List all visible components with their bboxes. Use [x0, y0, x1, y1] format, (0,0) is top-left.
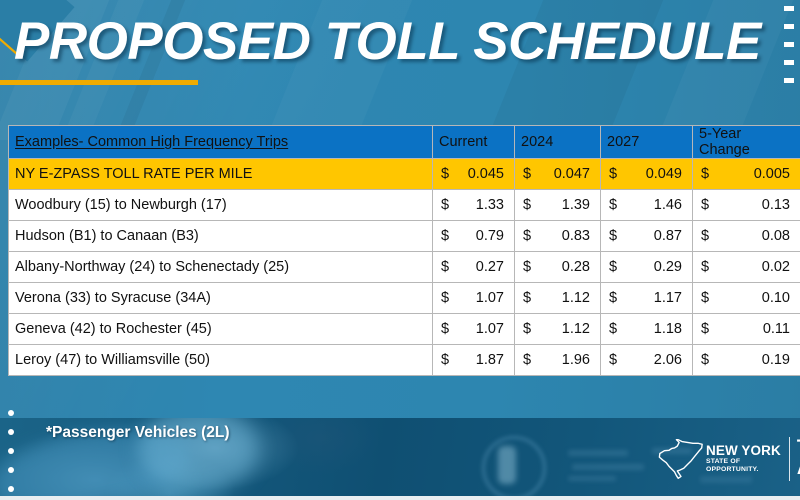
row-2027-cell: $1.18 — [601, 314, 693, 345]
rate-row-label: NY E-ZPASS TOLL RATE PER MILE — [9, 159, 433, 190]
bottom-left-dot-decoration — [8, 397, 14, 492]
row-2024-value: 1.12 — [562, 321, 590, 337]
row-change-cell: $0.10 — [693, 283, 800, 314]
row-change-cell: $0.19 — [693, 345, 800, 376]
column-header-current-label: Current — [439, 134, 508, 150]
row-2024-value: 1.12 — [562, 290, 590, 306]
photo-blur-shape — [572, 464, 644, 470]
slide-canvas: PROPOSED TOLL SCHEDULE Examples- Common … — [0, 0, 800, 500]
row-2027-cell: $0.87 — [601, 221, 693, 252]
currency-symbol: $ — [701, 228, 709, 244]
row-trip-label: Woodbury (15) to Newburgh (17) — [9, 190, 433, 221]
row-change-cell: $0.02 — [693, 252, 800, 283]
row-current-value: 1.87 — [476, 352, 504, 368]
row-change-value: 0.19 — [762, 352, 790, 368]
row-2027-value: 1.46 — [654, 197, 682, 213]
currency-symbol: $ — [701, 321, 709, 337]
row-change-cell: $0.11 — [693, 314, 800, 345]
footnote-text: *Passenger Vehicles (2L) — [46, 424, 230, 442]
currency-symbol: $ — [523, 259, 531, 275]
row-2024-cell: $0.83 — [515, 221, 601, 252]
column-header-2024-label: 2024 — [521, 134, 594, 150]
logo-state-line2: STATE OF — [706, 459, 781, 466]
column-header-5-year-change-line2: Change — [699, 142, 794, 158]
row-2024-value: 0.83 — [562, 228, 590, 244]
dash-mark — [784, 60, 794, 65]
currency-symbol: $ — [701, 166, 709, 182]
row-change-value: 0.02 — [762, 259, 790, 275]
currency-symbol: $ — [701, 197, 709, 213]
currency-symbol: $ — [701, 352, 709, 368]
row-change-value: 0.13 — [762, 197, 790, 213]
row-2024-cell: $1.39 — [515, 190, 601, 221]
currency-symbol: $ — [523, 197, 531, 213]
currency-symbol: $ — [609, 197, 617, 213]
row-current-cell: $1.07 — [433, 283, 515, 314]
row-current-cell: $1.33 — [433, 190, 515, 221]
row-current-cell: $0.79 — [433, 221, 515, 252]
row-2024-value: 0.28 — [562, 259, 590, 275]
currency-symbol: $ — [609, 321, 617, 337]
table-row: Hudson (B1) to Canaan (B3) $0.79 $0.83 $… — [9, 221, 800, 252]
rate-row-current-value: 0.045 — [468, 166, 504, 182]
column-header-trips-label: Examples- Common High Frequency Trips — [15, 134, 426, 150]
title-accent-rule — [0, 80, 198, 85]
row-trip-label: Verona (33) to Syracuse (34A) — [9, 283, 433, 314]
page-title: PROPOSED TOLL SCHEDULE — [14, 14, 761, 70]
rate-row-2024-value: 0.047 — [554, 166, 590, 182]
table-row: Leroy (47) to Williamsville (50) $1.87 $… — [9, 345, 800, 376]
column-header-current: Current — [433, 126, 515, 159]
row-2027-value: 1.17 — [654, 290, 682, 306]
row-2024-cell: $0.28 — [515, 252, 601, 283]
table-body: NY E-ZPASS TOLL RATE PER MILE $ 0.045 $ … — [9, 159, 800, 376]
row-2027-value: 0.87 — [654, 228, 682, 244]
ny-thruway-authority-logo: NEW YORK STATE OF OPPORTUNITY. Thruway A… — [658, 432, 800, 486]
logo-new-york-text: NEW YORK STATE OF OPPORTUNITY. — [706, 444, 781, 474]
photo-blur-shape — [568, 476, 616, 481]
currency-symbol: $ — [609, 228, 617, 244]
dash-mark — [784, 6, 794, 11]
rate-row-2027-cell: $ 0.049 — [601, 159, 693, 190]
dash-mark — [784, 42, 794, 47]
row-current-value: 0.27 — [476, 259, 504, 275]
currency-symbol: $ — [441, 352, 449, 368]
currency-symbol: $ — [609, 259, 617, 275]
table-row: Albany-Northway (24) to Schenectady (25)… — [9, 252, 800, 283]
rate-row-current-cell: $ 0.045 — [433, 159, 515, 190]
row-current-cell: $1.07 — [433, 314, 515, 345]
row-current-value: 1.33 — [476, 197, 504, 213]
row-change-value: 0.08 — [762, 228, 790, 244]
title-block: PROPOSED TOLL SCHEDULE — [14, 14, 761, 85]
dot-mark — [8, 486, 14, 492]
row-2027-value: 1.18 — [654, 321, 682, 337]
row-trip-label: Hudson (B1) to Canaan (B3) — [9, 221, 433, 252]
row-current-cell: $1.87 — [433, 345, 515, 376]
dash-mark — [784, 24, 794, 29]
row-change-cell: $0.08 — [693, 221, 800, 252]
toll-schedule-table-container: Examples- Common High Frequency Trips Cu… — [8, 125, 800, 376]
currency-symbol: $ — [523, 290, 531, 306]
row-2027-value: 2.06 — [654, 352, 682, 368]
currency-symbol: $ — [609, 290, 617, 306]
dot-mark — [8, 467, 14, 473]
currency-symbol: $ — [441, 228, 449, 244]
column-header-2027-label: 2027 — [607, 134, 686, 150]
row-current-value: 1.07 — [476, 290, 504, 306]
column-header-2024: 2024 — [515, 126, 601, 159]
rate-row-2027-value: 0.049 — [646, 166, 682, 182]
row-change-value: 0.11 — [763, 321, 790, 337]
photo-blur-shape — [568, 450, 628, 456]
currency-symbol: $ — [441, 166, 449, 182]
table-header-row: Examples- Common High Frequency Trips Cu… — [9, 126, 800, 159]
row-current-value: 0.79 — [476, 228, 504, 244]
dot-mark — [8, 448, 14, 454]
row-2024-value: 1.96 — [562, 352, 590, 368]
row-2024-cell: $1.12 — [515, 314, 601, 345]
table-row: Woodbury (15) to Newburgh (17) $1.33 $1.… — [9, 190, 800, 221]
currency-symbol: $ — [523, 321, 531, 337]
currency-symbol: $ — [441, 197, 449, 213]
bottom-edge-sliver — [0, 496, 800, 500]
row-trip-label: Geneva (42) to Rochester (45) — [9, 314, 433, 345]
dot-mark — [8, 429, 14, 435]
rate-row-change-cell: $ 0.005 — [693, 159, 800, 190]
top-right-dash-decoration — [784, 6, 796, 96]
row-change-value: 0.10 — [762, 290, 790, 306]
column-header-2027: 2027 — [601, 126, 693, 159]
table-row: Verona (33) to Syracuse (34A) $1.07 $1.1… — [9, 283, 800, 314]
toll-schedule-table: Examples- Common High Frequency Trips Cu… — [8, 125, 800, 376]
currency-symbol: $ — [609, 166, 617, 182]
column-header-5-year-change-line1: 5-Year — [699, 126, 794, 142]
currency-symbol: $ — [523, 166, 531, 182]
currency-symbol: $ — [609, 352, 617, 368]
currency-symbol: $ — [441, 290, 449, 306]
dash-mark — [784, 78, 794, 83]
row-2027-cell: $2.06 — [601, 345, 693, 376]
logo-state-line3: OPPORTUNITY. — [706, 467, 781, 474]
currency-symbol: $ — [441, 259, 449, 275]
logo-state-line1: NEW YORK — [706, 444, 781, 458]
row-change-cell: $0.13 — [693, 190, 800, 221]
column-header-5-year-change: 5-Year Change — [693, 126, 800, 159]
currency-symbol: $ — [441, 321, 449, 337]
row-2024-cell: $1.96 — [515, 345, 601, 376]
row-2024-value: 1.39 — [562, 197, 590, 213]
rate-row-change-value: 0.005 — [754, 166, 790, 182]
row-trip-label: Albany-Northway (24) to Schenectady (25) — [9, 252, 433, 283]
rate-per-mile-row: NY E-ZPASS TOLL RATE PER MILE $ 0.045 $ … — [9, 159, 800, 190]
row-current-cell: $0.27 — [433, 252, 515, 283]
dot-mark — [8, 410, 14, 416]
logo-divider — [789, 437, 790, 481]
currency-symbol: $ — [523, 352, 531, 368]
row-current-value: 1.07 — [476, 321, 504, 337]
photo-blur-shape — [498, 446, 516, 484]
currency-symbol: $ — [701, 290, 709, 306]
new-york-state-outline-icon — [658, 436, 704, 482]
row-2027-cell: $1.17 — [601, 283, 693, 314]
currency-symbol: $ — [701, 259, 709, 275]
row-2024-cell: $1.12 — [515, 283, 601, 314]
row-trip-label: Leroy (47) to Williamsville (50) — [9, 345, 433, 376]
row-2027-value: 0.29 — [654, 259, 682, 275]
row-2027-cell: $1.46 — [601, 190, 693, 221]
row-2027-cell: $0.29 — [601, 252, 693, 283]
rate-row-2024-cell: $ 0.047 — [515, 159, 601, 190]
column-header-trips: Examples- Common High Frequency Trips — [9, 126, 433, 159]
currency-symbol: $ — [523, 228, 531, 244]
table-row: Geneva (42) to Rochester (45) $1.07 $1.1… — [9, 314, 800, 345]
